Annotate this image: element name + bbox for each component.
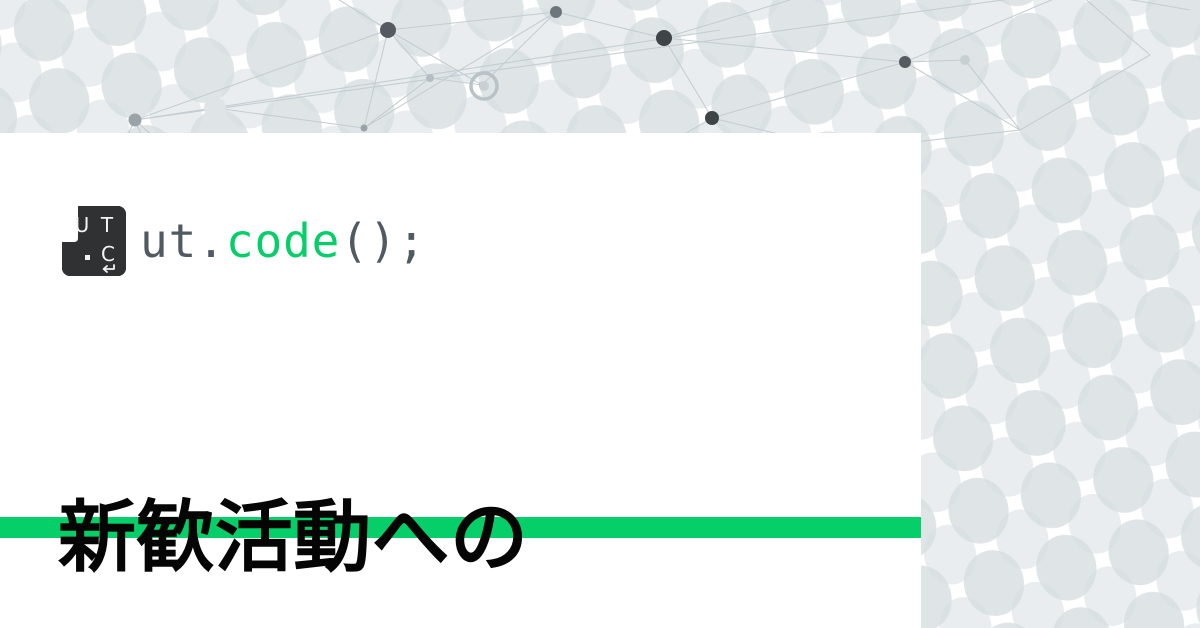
og-image-canvas: U T C ut.code(); 新歓活動への ご協力のお願い bbox=[0, 0, 1200, 628]
wordmark-namespace: ut. bbox=[140, 214, 226, 268]
brand-wordmark: ut.code(); bbox=[140, 218, 426, 264]
svg-text:T: T bbox=[100, 213, 114, 237]
svg-text:C: C bbox=[101, 242, 115, 266]
wordmark-call: (); bbox=[340, 214, 426, 268]
utcode-logo-mark: U T C bbox=[62, 206, 126, 276]
wordmark-function: code bbox=[226, 214, 340, 268]
page-title: 新歓活動への ご協力のお願い bbox=[58, 292, 607, 628]
brand-lockup: U T C ut.code(); bbox=[62, 206, 426, 276]
svg-text:U: U bbox=[75, 213, 90, 237]
headline-line-1: 新歓活動への bbox=[58, 489, 607, 587]
